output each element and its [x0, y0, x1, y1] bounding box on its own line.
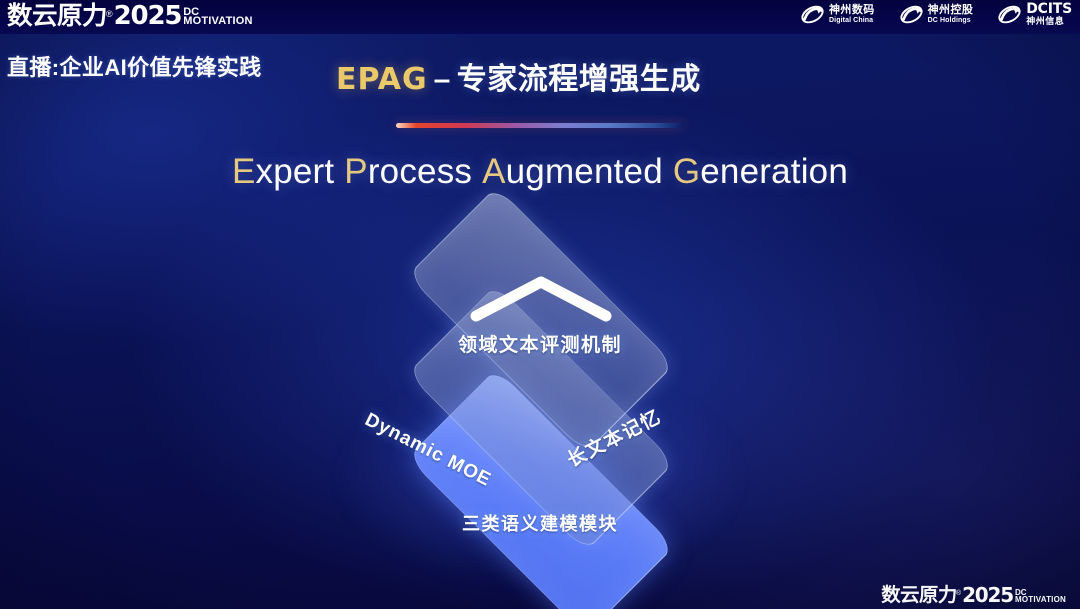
- partner-logo-digital-china: 神州数码 Digital China: [800, 2, 875, 27]
- slide-canvas: 数云原力 ® 2025 DC MOTIVATION 直播:企业AI价值先锋实践 …: [0, 0, 1080, 609]
- brand-watermark-bottom-right: 数云原力 ® 2025 DC MOTIVATION: [882, 585, 1066, 605]
- acronym-expansion: Expert Process Augmented Generation: [0, 152, 1080, 192]
- brand-motivation-text: MOTIVATION: [183, 16, 252, 28]
- headline-cap-g: G: [673, 152, 700, 191]
- live-session-label: 直播:企业AI价值先锋实践: [7, 50, 262, 82]
- title-divider: [396, 123, 684, 128]
- layered-architecture-diagram: 领域文本评测机制 Dynamic MOE 长文本记忆 三类语义建模模块: [280, 222, 800, 572]
- title-acronym: EPAG: [336, 62, 428, 97]
- watermark-dc-motivation: DC MOTIVATION: [1015, 589, 1066, 604]
- title-subtitle-cn: 专家流程增强生成: [457, 63, 701, 96]
- swoosh-icon: [899, 2, 924, 27]
- diagram-layer-top-label: 领域文本评测机制: [280, 330, 800, 357]
- chevron-up-icon: [466, 272, 616, 324]
- headline-rest-augmented: ugmented: [506, 152, 663, 191]
- brand-name-cn: 数云原力: [7, 4, 107, 29]
- headline-cap-e: E: [232, 152, 256, 191]
- partner-name-en: 神州信息: [1026, 17, 1072, 26]
- headline-rest-expert: xpert: [256, 152, 335, 191]
- partner-name-cn: 神州数码: [829, 5, 875, 17]
- partner-logo-text: 神州控股 DC Holdings: [928, 5, 974, 24]
- partner-logo-text: DCITS 神州信息: [1026, 2, 1072, 26]
- brand-logo-top-left: 数云原力 ® 2025 DC MOTIVATION: [8, 3, 253, 29]
- swoosh-icon: [800, 2, 825, 27]
- title-dash: –: [434, 63, 451, 96]
- headline-rest-generation: eneration: [700, 152, 848, 191]
- headline-cap-p: P: [344, 152, 368, 191]
- slide-title: EPAG–专家流程增强生成: [336, 54, 701, 98]
- diagram-layer-bottom-label: 三类语义建模模块: [280, 510, 800, 536]
- swoosh-icon: [997, 2, 1022, 27]
- brand-year: 2025: [114, 3, 182, 29]
- registered-mark-icon: ®: [106, 10, 113, 19]
- watermark-motivation-text: MOTIVATION: [1015, 596, 1066, 604]
- partner-logo-text: 神州数码 Digital China: [829, 5, 875, 24]
- headline-cap-a: A: [482, 152, 506, 191]
- partner-name-cn: DCITS: [1026, 2, 1072, 17]
- watermark-name-cn: 数云原力: [881, 586, 956, 605]
- partner-logo-dcits: DCITS 神州信息: [997, 2, 1072, 27]
- headline-rest-process: rocess: [368, 152, 472, 191]
- watermark-year: 2025: [962, 585, 1013, 605]
- partner-logo-dc-holdings: 神州控股 DC Holdings: [899, 2, 974, 27]
- partner-name-en: Digital China: [829, 17, 875, 24]
- partner-name-en: DC Holdings: [928, 17, 974, 24]
- partner-logo-row: 神州数码 Digital China 神州控股 DC Holdings: [800, 2, 1072, 27]
- partner-name-cn: 神州控股: [928, 5, 974, 17]
- brand-dc-motivation: DC MOTIVATION: [183, 7, 252, 28]
- registered-mark-icon: ®: [956, 590, 961, 597]
